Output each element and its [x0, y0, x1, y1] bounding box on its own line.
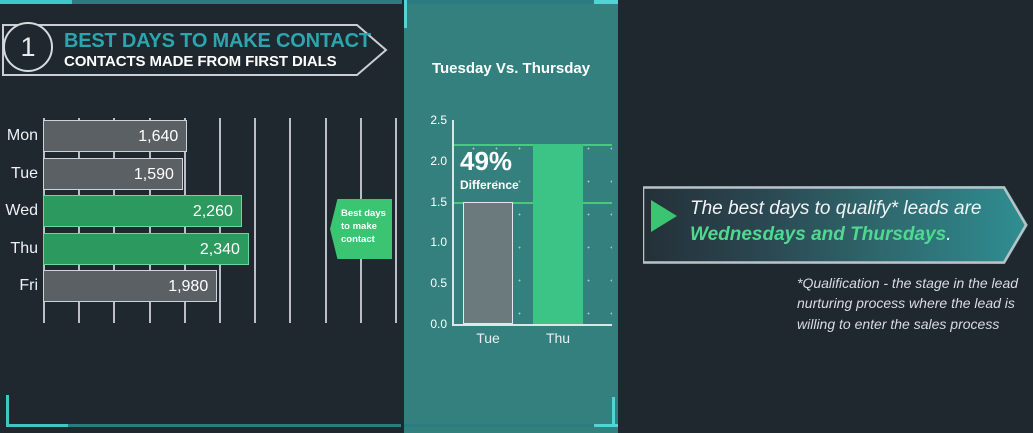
conclusion-line-1: The best days to qualify* leads are: [690, 196, 1000, 222]
bottom-accent-bright: [6, 424, 68, 427]
conclusion-line-2: Wednesdays and Thursdays.: [690, 222, 1000, 248]
x-axis-tick: Thu: [546, 330, 570, 346]
comparison-chart-title: Tuesday Vs. Thursday: [404, 60, 618, 77]
bar-tue: 1,590: [43, 158, 183, 190]
header-text-group: BEST DAYS TO MAKE CONTACT CONTACTS MADE …: [64, 30, 371, 70]
conclusion-text: The best days to qualify* leads are Wedn…: [690, 196, 1000, 247]
step-number: 1: [20, 32, 35, 63]
y-axis-tick: 0.5: [430, 276, 447, 290]
y-axis-tick: 0.0: [430, 317, 447, 331]
top-accent-bright: [0, 0, 72, 4]
play-triangle-icon: [651, 200, 677, 232]
best-days-badge: Best days to make contact: [330, 199, 392, 259]
difference-label: Difference: [460, 178, 519, 192]
conclusion-highlight: Wednesdays and Thursdays: [690, 224, 946, 245]
bar-wed: 2,260: [43, 195, 242, 227]
bar-day-label: Thu: [0, 231, 38, 267]
bar-day-label: Tue: [0, 156, 38, 192]
bar-fri: 1,980: [43, 270, 217, 302]
page-subtitle: CONTACTS MADE FROM FIRST DIALS: [64, 53, 371, 70]
bar-value-label: 1,980: [168, 271, 208, 303]
bar-value-label: 2,260: [193, 196, 233, 228]
qualification-footnote: *Qualification - the stage in the lead n…: [797, 273, 1027, 334]
bar-value-label: 2,340: [200, 234, 240, 266]
page-title: BEST DAYS TO MAKE CONTACT: [64, 30, 371, 52]
y-axis-tick: 1.5: [430, 195, 447, 209]
panel-right-accent-vertical: [612, 397, 615, 427]
bar-thu: 2,340: [43, 233, 249, 265]
difference-annotation: 49% Difference: [460, 148, 519, 192]
bar-day-label: Fri: [0, 268, 38, 304]
comparison-y-axis: [452, 120, 454, 326]
step-number-badge: 1: [3, 22, 53, 72]
panel-top-accent-dark: [404, 0, 594, 4]
left-accent-vertical: [6, 395, 9, 427]
y-axis-tick: 2.5: [430, 113, 447, 127]
table-row: Fri1,980: [0, 268, 400, 304]
best-days-badge-line-2: to make: [341, 221, 386, 234]
bar-value-label: 1,590: [134, 159, 174, 191]
comparison-x-axis: [452, 324, 612, 326]
best-days-badge-line-3: contact: [341, 234, 386, 247]
comparison-bar-thu: [533, 144, 583, 324]
bar-day-label: Mon: [0, 118, 38, 154]
top-accent-dark: [72, 0, 402, 4]
table-row: Mon1,640: [0, 118, 400, 154]
best-days-badge-line-1: Best days: [341, 208, 386, 221]
table-row: Tue1,590: [0, 156, 400, 192]
difference-value: 49%: [460, 148, 519, 174]
conclusion-period: .: [946, 224, 951, 245]
comparison-bar-chart: 0.00.51.01.52.02.5 TueThu 49% Difference: [452, 120, 612, 326]
panel-left-accent-vertical: [404, 0, 407, 28]
y-axis-tick: 2.0: [430, 154, 447, 168]
bar-mon: 1,640: [43, 120, 187, 152]
bar-day-label: Wed: [0, 193, 38, 229]
panel-top-accent-bright: [594, 0, 618, 4]
comparison-bar-tue: [463, 202, 513, 324]
x-axis-tick: Tue: [476, 330, 500, 346]
y-axis-tick: 1.0: [430, 235, 447, 249]
infographic-canvas: 1 BEST DAYS TO MAKE CONTACT CONTACTS MAD…: [0, 0, 1033, 433]
bar-value-label: 1,640: [138, 121, 178, 153]
panel-bottom-accent-dark: [404, 424, 594, 427]
